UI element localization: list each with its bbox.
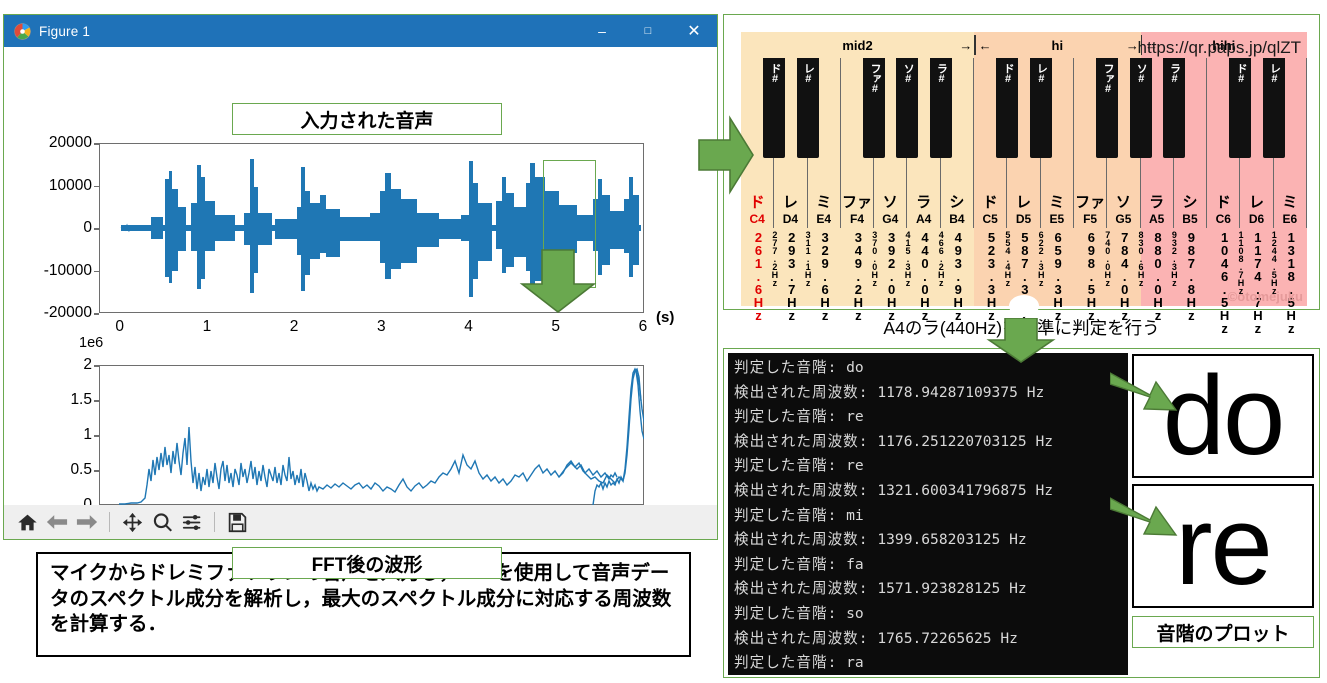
matplotlib-figure-window: Figure 1 – □ ✕ 入力された音声 20000 10000 0 -10… (3, 14, 718, 540)
white-key-note-label: C6 (1216, 213, 1231, 225)
forward-arrow-icon[interactable] (74, 509, 100, 535)
wave-xtick-6: 6 (639, 318, 648, 336)
white-key-frequency-F4: 349.2Hz (852, 230, 864, 321)
black-key-ソ#-830.6Hz[interactable]: ソ# (1130, 58, 1152, 158)
qr-url-text: https://qr.paps.jp/qlZT (1138, 38, 1301, 58)
white-key-jp-label: レ (783, 195, 798, 210)
fft-y-exponent: 1e6 (79, 335, 103, 351)
black-key-label: ソ# (1135, 63, 1147, 84)
white-key-note-label: A4 (916, 213, 931, 225)
white-key-jp-label: ミ (1049, 195, 1064, 210)
screenshot-root: Figure 1 – □ ✕ 入力された音声 20000 10000 0 -10… (0, 0, 1327, 683)
white-key-note-label: E5 (1049, 213, 1064, 225)
console-line: 判定した音階: re (734, 454, 1128, 479)
white-key-note-label: B5 (1182, 213, 1197, 225)
flow-arrow-waveform-to-fft (518, 248, 598, 314)
close-button[interactable]: ✕ (671, 15, 717, 47)
console-line: 判定した音階: mi (734, 504, 1128, 529)
wave-ytick-0: 0 (83, 219, 92, 237)
minimize-button[interactable]: – (579, 15, 625, 47)
waveform-x-unit: (s) (656, 309, 674, 326)
black-key-frequency-1108.7Hz: 1108.7Hz (1236, 230, 1245, 294)
wave-xtick-0: 0 (115, 318, 124, 336)
white-key-frequency-E4: 329.6Hz (818, 230, 830, 321)
white-key-jp-label: ミ (1282, 195, 1297, 210)
configure-subplots-icon[interactable] (179, 509, 205, 535)
console-line: 判定した音階: fa (734, 553, 1128, 578)
white-key-jp-label: レ (1249, 195, 1264, 210)
flow-arrow-to-console (985, 318, 1057, 364)
black-key-frequency-277.2Hz: 277.2Hz (770, 230, 779, 286)
black-key-レ#-1244.5Hz[interactable]: レ# (1263, 58, 1285, 158)
console-line: 判定した音階: ra (734, 651, 1128, 675)
white-key-frequency-A4: 440.0Hz (918, 230, 930, 321)
white-key-frequency-E5: 659.3Hz (1051, 230, 1063, 321)
matplotlib-icon (14, 23, 31, 40)
white-key-frequency-C4: 261.6Hz (752, 230, 764, 321)
white-key-note-label: G4 (882, 213, 898, 225)
white-key-note-label: B4 (949, 213, 964, 225)
note-plot-caption: 音階のプロット (1132, 616, 1314, 648)
black-key-label: ド# (1002, 63, 1014, 84)
black-key-label: ド# (1235, 63, 1247, 84)
white-key-frequency-G5: 784.0Hz (1118, 230, 1130, 321)
toolbar-separator-1 (109, 512, 110, 532)
black-key-ド#-277.2Hz[interactable]: ド# (763, 58, 785, 158)
console-line: 検出された周波数: 1178.94287109375 Hz (734, 381, 1128, 406)
back-arrow-icon[interactable] (44, 509, 70, 535)
black-key-ラ#-932.3Hz[interactable]: ラ# (1163, 58, 1185, 158)
black-key-label: ファ# (1101, 63, 1113, 94)
white-key-note-label: F4 (850, 213, 864, 225)
white-key-note-label: D6 (1249, 213, 1264, 225)
white-key-frequency-D6: 1174.7Hz (1251, 230, 1263, 334)
black-key-frequency-370.0Hz: 370.0Hz (870, 230, 879, 286)
wave-xtick-3: 3 (377, 318, 386, 336)
window-titlebar[interactable]: Figure 1 – □ ✕ (4, 15, 717, 47)
white-key-jp-label: ソ (1116, 195, 1131, 210)
console-line: 判定した音階: do (734, 356, 1128, 381)
console-line: 判定した音階: so (734, 602, 1128, 627)
black-key-ファ#-370.0Hz[interactable]: ファ# (863, 58, 885, 158)
fft-axes: 2 1.5 1 0.5 0 0 500 1000 1500 2000 (99, 365, 644, 505)
white-key-jp-label: ラ (1149, 195, 1164, 210)
wave-ytick-20000: 20000 (49, 134, 92, 152)
black-key-frequency-830.6Hz: 830.6Hz (1137, 230, 1146, 286)
console-line: 検出された周波数: 1176.251220703125 Hz (734, 430, 1128, 455)
fft-tail-descent (99, 365, 644, 505)
white-key-jp-label: ド (983, 195, 998, 210)
fft-waveform-caption: FFT後の波形 (232, 547, 502, 579)
black-key-label: ファ# (868, 63, 880, 94)
console-output: 判定した音階: do検出された周波数: 1178.94287109375 Hz判… (728, 353, 1128, 675)
wave-ytick-m10000: -10000 (44, 262, 92, 280)
black-key-label: ソ# (902, 63, 914, 84)
black-key-ド#-554.4Hz[interactable]: ド# (996, 58, 1018, 158)
white-key-frequency-G4: 392.0Hz (885, 230, 897, 321)
black-key-frequency-1244.5Hz: 1244.5Hz (1270, 230, 1279, 294)
black-key-レ#-622.3Hz[interactable]: レ# (1030, 58, 1052, 158)
black-key-ソ#-415.3Hz[interactable]: ソ# (896, 58, 918, 158)
white-key-frequency-B4: 493.9Hz (951, 230, 963, 321)
white-key-frequency-D4: 293.7Hz (785, 230, 797, 321)
octave-label-mid2: mid2 (741, 32, 974, 58)
black-key-frequency-932.3Hz: 932.3Hz (1170, 230, 1179, 286)
black-keys-row: ド#レ#ファ#ソ#ラ#ド#レ#ファ#ソ#ラ#ド#レ# (741, 58, 1307, 158)
detected-note-2: re (1175, 502, 1271, 589)
toolbar-separator-2 (214, 512, 215, 532)
octave-arrow-right-mid2: → (959, 32, 972, 58)
black-key-frequency-622.3Hz: 622.3Hz (1037, 230, 1046, 286)
white-key-note-label: D4 (783, 213, 798, 225)
white-key-note-label: E4 (816, 213, 831, 225)
black-key-frequency-466.2Hz: 466.2Hz (937, 230, 946, 286)
console-line: 検出された周波数: 1321.600341796875 Hz (734, 479, 1128, 504)
white-key-frequency-C6: 1046.5Hz (1218, 230, 1230, 334)
white-key-note-label: C5 (983, 213, 998, 225)
console-line: 検出された周波数: 1571.923828125 Hz (734, 577, 1128, 602)
white-key-note-label: A5 (1149, 213, 1164, 225)
keyboard-credit: ©otomejuku (1228, 289, 1303, 304)
black-key-label: ラ# (1168, 63, 1180, 84)
octave-arrow-left-hi: ← (979, 32, 992, 58)
piano-keyboard-image: https://qr.paps.jp/qlZT mid2→hi→←hihi← ド… (741, 32, 1307, 306)
black-key-ファ#-740.0Hz[interactable]: ファ# (1096, 58, 1118, 158)
wave-xtick-5: 5 (551, 318, 560, 336)
input-waveform-caption: 入力された音声 (232, 103, 502, 135)
white-key-jp-label: ソ (883, 195, 898, 210)
black-key-label: ド# (769, 63, 781, 84)
fft-ytick-0.5: 0.5 (70, 461, 92, 479)
white-key-jp-label: ファ (842, 195, 872, 210)
white-key-note-label: C4 (749, 213, 764, 225)
black-key-label: レ# (1268, 63, 1280, 84)
white-key-jp-label: シ (1182, 195, 1197, 210)
white-key-frequency-C5: 523.3Hz (985, 230, 997, 321)
flow-arrow-to-keyboard (697, 112, 755, 198)
keyboard-body: https://qr.paps.jp/qlZT mid2→hi→←hihi← ド… (741, 32, 1307, 306)
white-key-jp-label: ラ (916, 195, 931, 210)
wave-xtick-2: 2 (290, 318, 299, 336)
white-key-jp-label: レ (1016, 195, 1031, 210)
flow-arrow-to-note-do (1110, 370, 1180, 418)
console-line: 判定した音階: re (734, 405, 1128, 430)
black-key-ド#-1108.7Hz[interactable]: ド# (1229, 58, 1251, 158)
black-key-label: ラ# (935, 63, 947, 84)
maximize-button[interactable]: □ (625, 15, 671, 47)
white-key-frequency-B5: 987.8Hz (1184, 230, 1196, 321)
black-key-frequency-740.0Hz: 740.0Hz (1103, 230, 1112, 286)
console-line: 検出された周波数: 1765.72265625 Hz (734, 627, 1128, 652)
wave-xtick-4: 4 (464, 318, 473, 336)
black-key-frequency-311.1Hz: 311.1Hz (804, 230, 813, 286)
white-key-note-label: E6 (1283, 213, 1298, 225)
save-icon[interactable] (224, 509, 250, 535)
black-key-ラ#-466.2Hz[interactable]: ラ# (930, 58, 952, 158)
figure-canvas: 入力された音声 20000 10000 0 -10000 -20000 0 1 … (4, 47, 717, 507)
window-controls: – □ ✕ (579, 15, 717, 47)
octave-label-hi: hi (974, 32, 1140, 58)
wave-ytick-m20000: -20000 (44, 304, 92, 322)
output-panel: 判定した音階: do検出された周波数: 1178.94287109375 Hz判… (723, 348, 1320, 678)
white-key-note-label: D5 (1016, 213, 1031, 225)
console-line: 検出された周波数: 1399.658203125 Hz (734, 528, 1128, 553)
keyboard-bottom-notch (1009, 295, 1039, 317)
zoom-icon[interactable] (149, 509, 175, 535)
matplotlib-navigation-toolbar (4, 505, 717, 539)
white-key-note-label: G5 (1115, 213, 1131, 225)
wave-ytick-10000: 10000 (49, 177, 92, 195)
white-key-note-label: F5 (1083, 213, 1097, 225)
detected-note-1: do (1163, 372, 1284, 459)
black-key-レ#-311.1Hz[interactable]: レ# (797, 58, 819, 158)
home-icon[interactable] (14, 509, 40, 535)
white-key-frequency-F5: 698.5Hz (1085, 230, 1097, 321)
white-key-jp-label: ド (1216, 195, 1231, 210)
flow-arrow-to-note-re (1110, 495, 1180, 543)
wave-xtick-1: 1 (203, 318, 212, 336)
pan-move-icon[interactable] (119, 509, 145, 535)
fft-ytick-2.0: 2 (83, 356, 92, 374)
white-key-jp-label: ミ (816, 195, 831, 210)
black-key-frequency-415.3Hz: 415.3Hz (903, 230, 912, 286)
black-key-label: レ# (1035, 63, 1047, 84)
piano-reference-panel: https://qr.paps.jp/qlZT mid2→hi→←hihi← ド… (723, 14, 1320, 310)
window-title: Figure 1 (39, 24, 90, 39)
white-key-frequency-A5: 880.0Hz (1151, 230, 1163, 321)
white-key-frequency-E6: 1318.5Hz (1284, 230, 1296, 334)
fft-ytick-1.5: 1.5 (70, 391, 92, 409)
fft-ytick-1.0: 1 (83, 426, 92, 444)
white-key-jp-label: シ (949, 195, 964, 210)
white-key-jp-label: ファ (1075, 195, 1105, 210)
black-key-label: レ# (802, 63, 814, 84)
black-key-frequency-554.4Hz: 554.4Hz (1003, 230, 1012, 286)
